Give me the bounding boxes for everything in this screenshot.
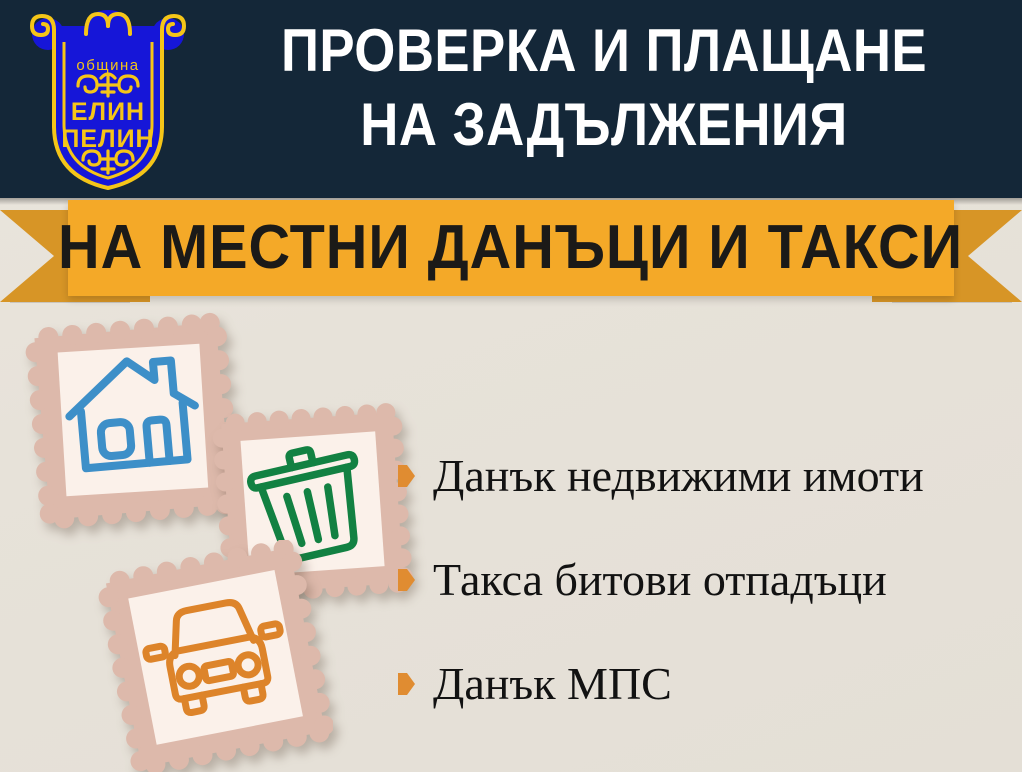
svg-text:община: община bbox=[76, 57, 139, 74]
page-title-line-1: ПРОВЕРКА И ПЛАЩАНЕ bbox=[247, 14, 962, 88]
ribbon-label: НА МЕСТНИ ДАНЪЦИ И ТАКСИ bbox=[59, 217, 964, 279]
list-item-label: Данък недвижими имоти bbox=[433, 450, 924, 502]
poster-canvas: община ЕЛИН ПЕЛИН bbox=[0, 0, 1022, 772]
municipality-crest-logo: община ЕЛИН ПЕЛИН bbox=[28, 8, 188, 190]
list-item-label: Данък МПС bbox=[433, 658, 672, 710]
ribbon-banner: НА МЕСТНИ ДАНЪЦИ И ТАКСИ bbox=[0, 198, 1022, 310]
svg-text:ПЕЛИН: ПЕЛИН bbox=[61, 125, 154, 153]
arrow-bullet-icon bbox=[398, 569, 415, 591]
list-item[interactable]: Данък МПС bbox=[398, 632, 1008, 736]
ribbon-center-panel: НА МЕСТНИ ДАНЪЦИ И ТАКСИ bbox=[68, 200, 954, 296]
page-title: ПРОВЕРКА И ПЛАЩАНЕ НА ЗАДЪЛЖЕНИЯ bbox=[247, 14, 962, 162]
stamp-card-car bbox=[98, 540, 333, 772]
list-item[interactable]: Такса битови отпадъци bbox=[398, 528, 1008, 632]
arrow-bullet-icon bbox=[398, 673, 415, 695]
arrow-bullet-icon bbox=[398, 465, 415, 487]
list-item[interactable]: Данък недвижими имоти bbox=[398, 424, 1008, 528]
list-item-label: Такса битови отпадъци bbox=[433, 554, 887, 606]
svg-text:ЕЛИН: ЕЛИН bbox=[71, 98, 145, 126]
tax-type-list: Данък недвижими имоти Такса битови отпад… bbox=[398, 424, 1008, 736]
page-title-line-2: НА ЗАДЪЛЖЕНИЯ bbox=[247, 88, 962, 162]
